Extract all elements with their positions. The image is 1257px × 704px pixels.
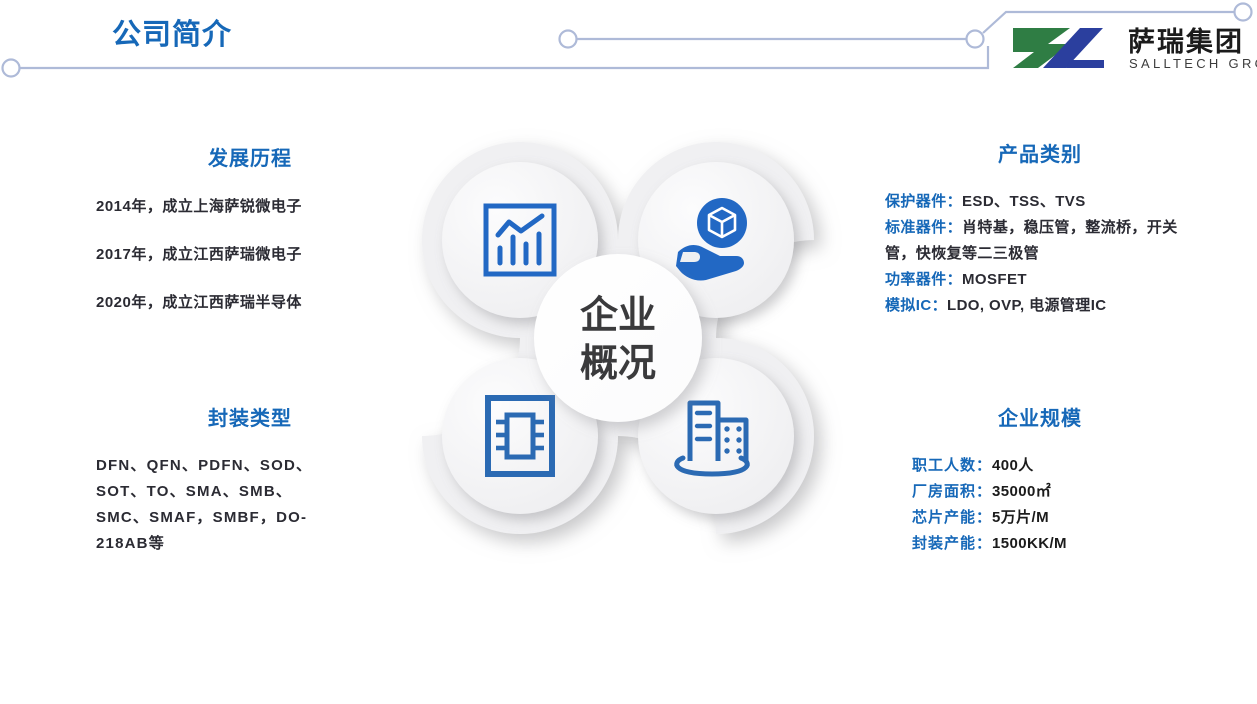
scale-label: 芯片产能： (912, 509, 992, 526)
product-category-row: 模拟IC：LDO, OVP, 电源管理IC (885, 293, 1195, 319)
product-category-label: 功率器件： (885, 271, 962, 288)
panel-product-categories: 产品类别 保护器件：ESD、TSS、TVS 标准器件：肖特基，稳压管，整流桥，开… (860, 138, 1220, 319)
center-label-line1: 企业 (580, 294, 656, 337)
panel-title-scale: 企业规模 (860, 402, 1220, 431)
logo-text-cn: 萨瑞集团 (1128, 20, 1244, 59)
product-category-value: LDO, OVP, 电源管理IC (947, 297, 1106, 314)
center-label-line2: 概况 (580, 343, 656, 385)
scale-label: 职工人数： (912, 457, 992, 474)
scale-row: 职工人数：400人 (912, 453, 1220, 479)
slide-header: 公司简介 萨瑞集团 SALLTECH GROUP (0, 0, 1257, 100)
slide-root: 公司简介 萨瑞集团 SALLTECH GROUP 发展历程 2014年，成立上海… (0, 0, 1257, 704)
history-item: 2017年，成立江西萨瑞微电子 (80, 243, 420, 264)
history-item: 2014年，成立上海萨锐微电子 (80, 195, 420, 216)
product-category-value: ESD、TSS、TVS (962, 193, 1086, 210)
product-category-value: MOSFET (962, 271, 1027, 288)
history-item: 2020年，成立江西萨瑞半导体 (80, 291, 420, 312)
package-type-list: DFN、QFN、PDFN、SOD、SOT、TO、SMA、SMB、SMC、SMAF… (80, 453, 342, 557)
panel-development-history: 发展历程 2014年，成立上海萨锐微电子 2017年，成立江西萨瑞微电子 202… (80, 142, 420, 339)
scale-row: 封装产能：1500KK/M (912, 531, 1220, 557)
scale-label: 厂房面积： (912, 483, 992, 500)
scale-value: 35000㎡ (992, 483, 1051, 500)
scale-value: 5万片/M (992, 509, 1049, 526)
scale-value: 1500KK/M (992, 535, 1067, 552)
scale-row: 芯片产能：5万片/M (912, 505, 1220, 531)
product-category-label: 模拟IC： (885, 297, 947, 314)
salltech-sz-logo-icon (1008, 22, 1120, 74)
enterprise-scale-list: 职工人数：400人 厂房面积：35000㎡ 芯片产能：5万片/M 封装产能：15… (860, 453, 1220, 557)
product-category-list: 保护器件：ESD、TSS、TVS 标准器件：肖特基，稳压管，整流桥，开关管，快恢… (860, 189, 1195, 319)
panel-package-types: 封装类型 DFN、QFN、PDFN、SOD、SOT、TO、SMA、SMB、SMC… (80, 402, 420, 557)
panel-title-history: 发展历程 (80, 142, 420, 171)
center-circle[interactable] (534, 254, 702, 422)
product-category-row: 保护器件：ESD、TSS、TVS (885, 189, 1195, 215)
panel-title-package: 封装类型 (80, 402, 420, 431)
product-category-label: 保护器件： (885, 193, 962, 210)
product-category-row: 功率器件：MOSFET (885, 267, 1195, 293)
enterprise-overview-diagram: 企业 概况 (408, 128, 848, 568)
panel-enterprise-scale: 企业规模 职工人数：400人 厂房面积：35000㎡ 芯片产能：5万片/M 封装… (860, 402, 1220, 557)
logo-text-en: SALLTECH GROUP (1129, 56, 1257, 71)
scale-label: 封装产能： (912, 535, 992, 552)
page-title: 公司简介 (112, 11, 232, 53)
scale-value: 400人 (992, 457, 1034, 474)
scale-row: 厂房面积：35000㎡ (912, 479, 1220, 505)
product-category-row: 标准器件：肖特基，稳压管，整流桥，开关管，快恢复等二三极管 (885, 215, 1195, 267)
product-category-label: 标准器件： (885, 219, 962, 236)
panel-title-product: 产品类别 (860, 138, 1220, 167)
company-logo: 萨瑞集团 SALLTECH GROUP (1008, 20, 1248, 78)
